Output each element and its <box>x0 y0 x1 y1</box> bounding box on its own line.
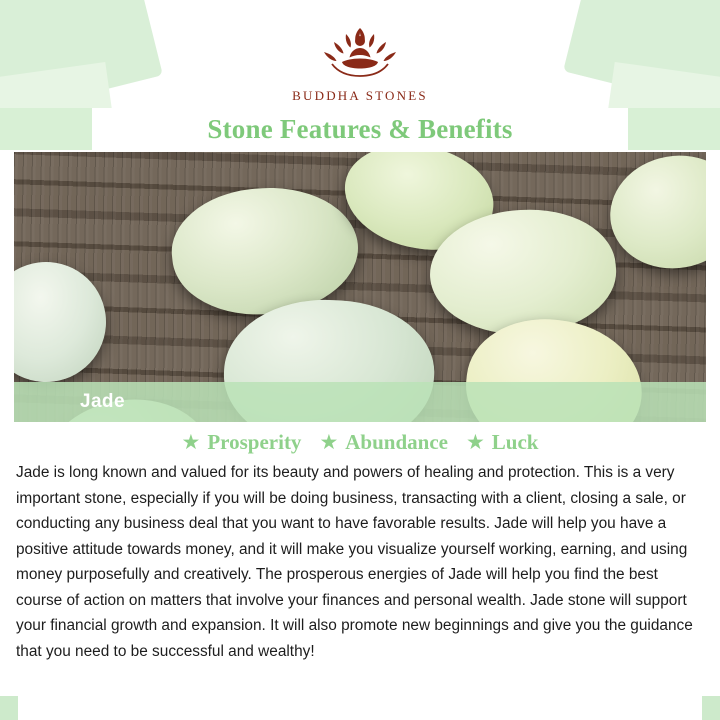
stone-info-card: BUDDHA STONES Stone Features & Benefits … <box>0 0 720 720</box>
star-icon: ★ <box>319 432 338 453</box>
keyword-item-abundance: ★ Abundance <box>319 430 448 455</box>
stone-name-band: Jade <box>14 382 706 422</box>
decor-corner-bottom-left <box>0 696 18 720</box>
decor-corner-bottom-right <box>702 696 720 720</box>
title-banner: Stone Features & Benefits <box>92 108 628 150</box>
lotus-meditation-figure-icon <box>294 18 426 84</box>
keyword-item-prosperity: ★ Prosperity <box>182 430 302 455</box>
keyword-list: ★ Prosperity ★ Abundance ★ Luck <box>0 430 720 455</box>
page-title: Stone Features & Benefits <box>207 114 512 145</box>
stone-name-label: Jade <box>80 391 125 413</box>
description-text: Jade is long known and valued for its be… <box>16 460 706 664</box>
star-icon: ★ <box>466 432 485 453</box>
keyword-label: Abundance <box>345 430 448 455</box>
keyword-label: Luck <box>492 430 539 455</box>
keyword-item-luck: ★ Luck <box>466 430 539 455</box>
brand-name: BUDDHA STONES <box>0 88 720 104</box>
brand-logo: BUDDHA STONES <box>0 18 720 104</box>
keyword-label: Prosperity <box>207 430 301 455</box>
star-icon: ★ <box>182 432 201 453</box>
